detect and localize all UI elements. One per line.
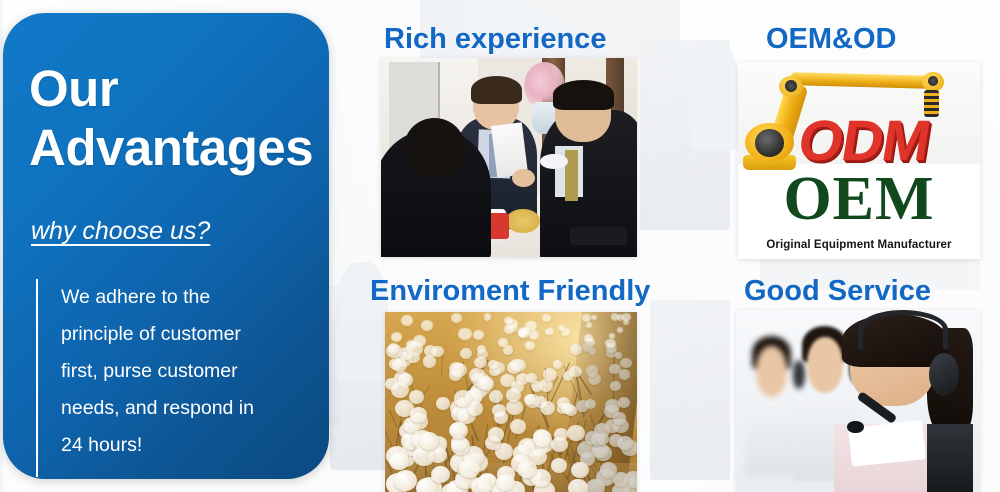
body-line-5: 24 hours! [61, 427, 309, 464]
oem-caption: Original Equipment Manufacturer [738, 239, 980, 251]
section-heading-good-service: Good Service [744, 274, 931, 308]
section-heading-rich-experience: Rich experience [384, 22, 606, 56]
body-line-2: principle of customer [61, 316, 309, 353]
advantages-body-text: We adhere to the principle of customer f… [61, 279, 309, 464]
photo-oem-odm-logo: ODM OEM Original Equipment Manufacturer [738, 62, 980, 259]
photo-customer-service-team [736, 310, 980, 492]
odm-wordmark-text: ODM [794, 113, 933, 170]
body-line-1: We adhere to the [61, 279, 309, 316]
section-heading-oem-odm: OEM&OD [766, 22, 897, 56]
body-line-4: needs, and respond in [61, 390, 309, 427]
our-advantages-title: Our Advantages [29, 59, 315, 177]
title-line-1: Our [29, 59, 315, 118]
advantages-body-block: We adhere to the principle of customer f… [36, 279, 309, 464]
why-choose-us-subtitle: why choose us? [31, 217, 210, 246]
title-line-2: Advantages [29, 118, 315, 177]
body-line-3: first, purse customer [61, 353, 309, 390]
vertical-rule-divider [36, 279, 38, 477]
section-heading-enviroment-friendly: Enviroment Friendly [370, 274, 650, 308]
oem-wordmark: OEM [738, 168, 980, 230]
advantages-banner: Our Advantages why choose us? We adhere … [0, 0, 1000, 492]
photo-cotton-field [385, 312, 637, 492]
our-advantages-card: Our Advantages why choose us? We adhere … [3, 13, 329, 479]
odm-wordmark: ODM [799, 113, 973, 170]
photo-business-meeting [381, 58, 637, 257]
